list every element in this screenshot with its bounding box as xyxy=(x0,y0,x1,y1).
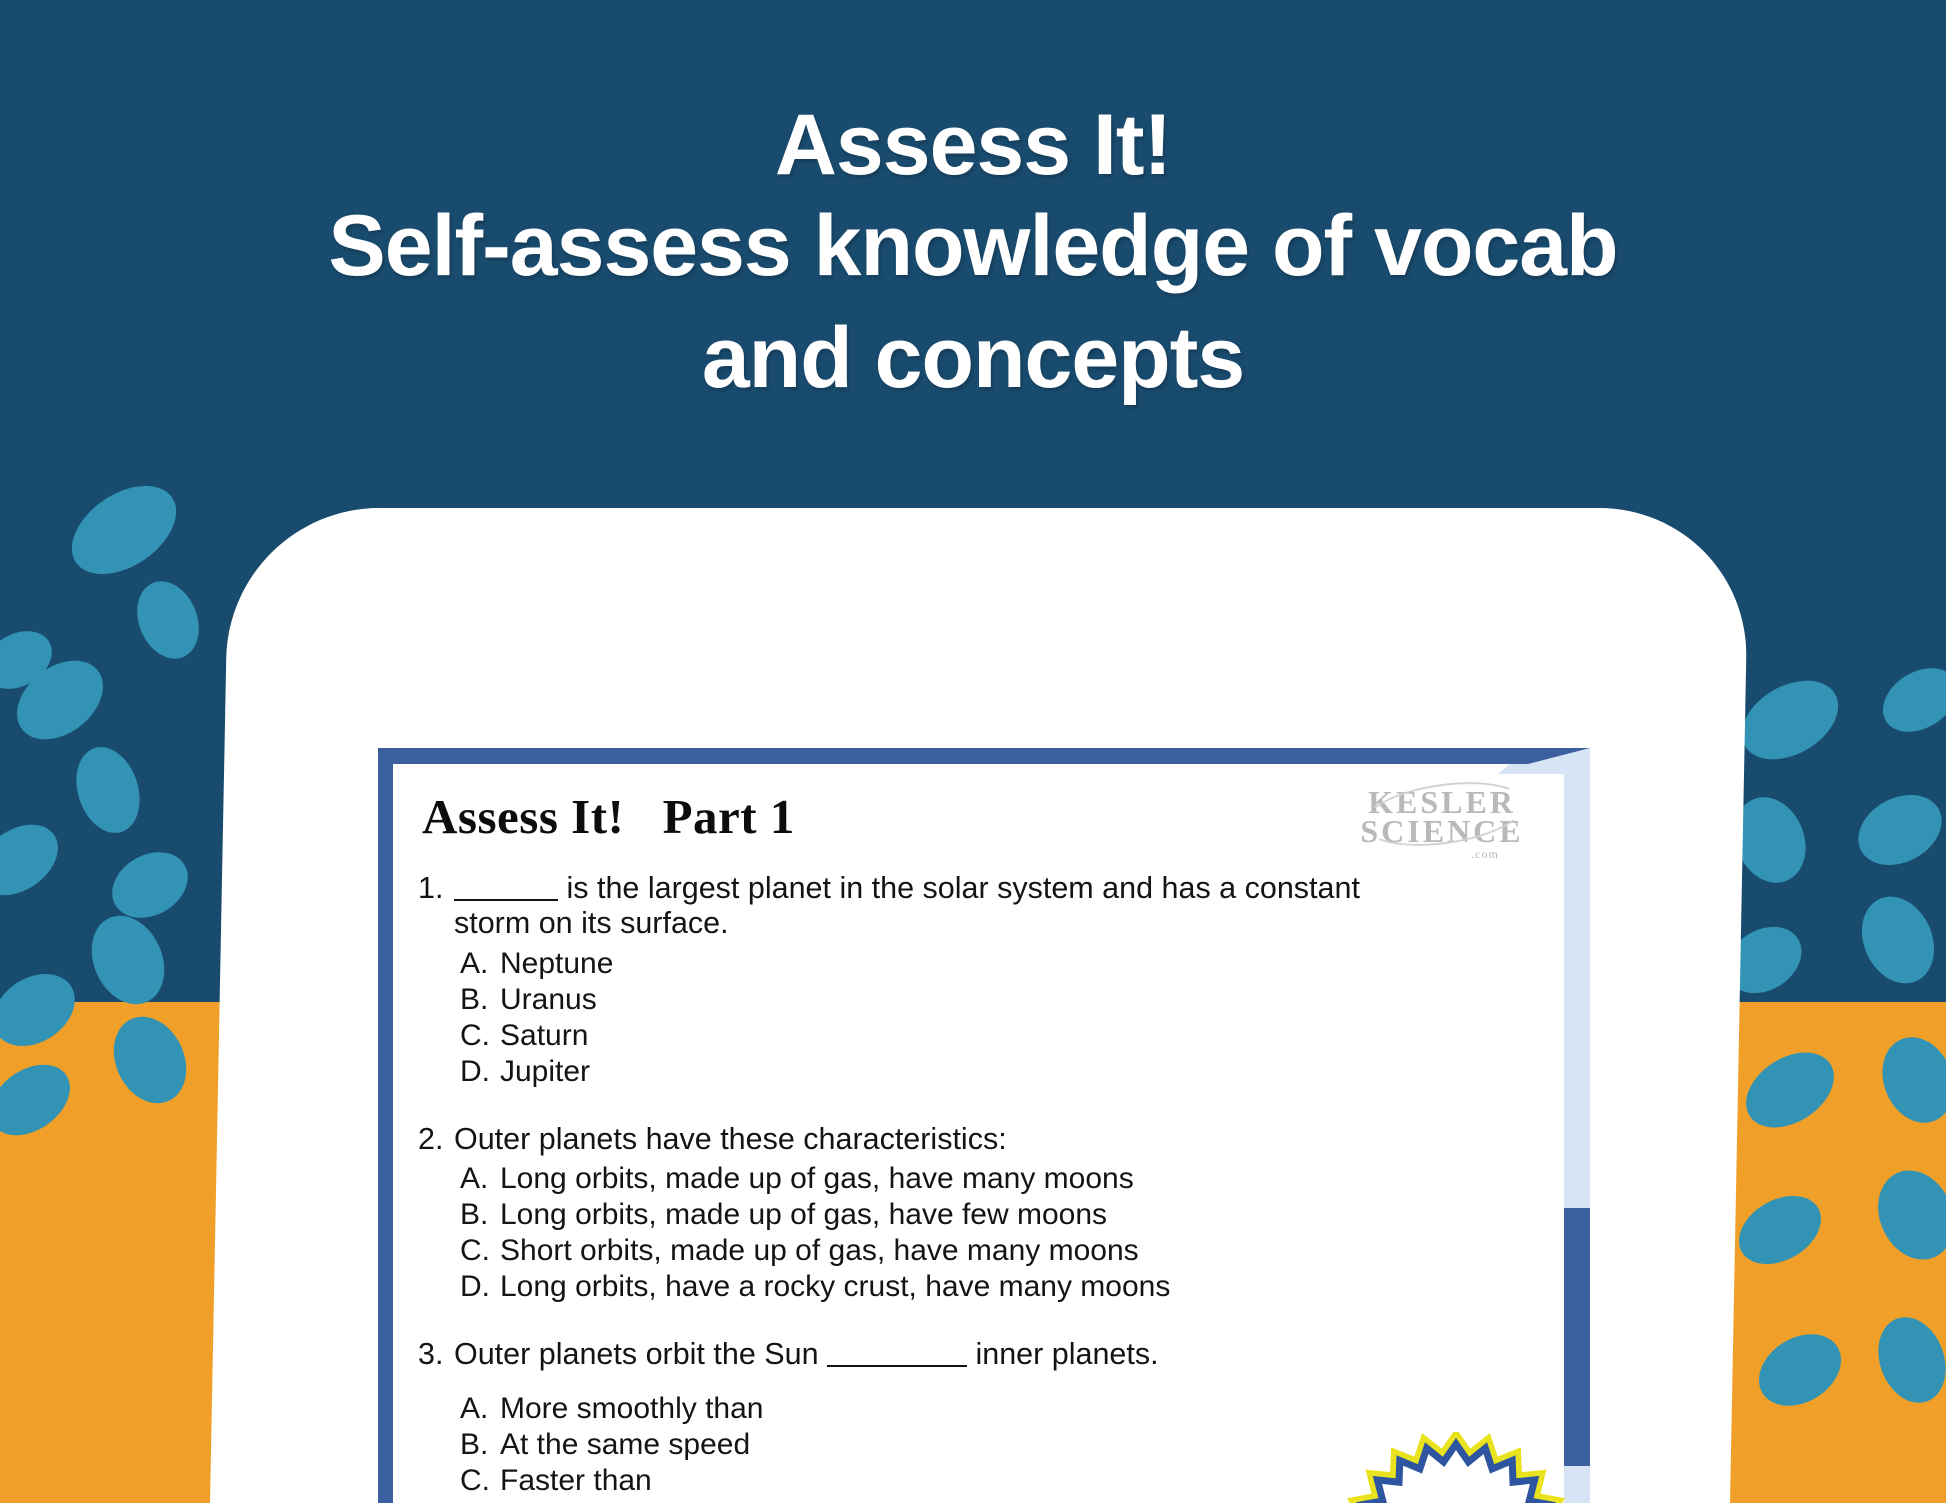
decorative-dot xyxy=(1746,1320,1855,1421)
option-row: C. Saturn xyxy=(460,1018,1552,1054)
question-3-number: 3. xyxy=(418,1337,454,1372)
option-row: A. Neptune xyxy=(460,946,1552,982)
question-1-blank xyxy=(454,899,558,901)
decorative-dot xyxy=(0,1050,83,1150)
headline-line-2: Self-assess knowledge of vocab xyxy=(0,191,1946,303)
decorative-dot xyxy=(56,468,192,593)
question-2-text: 2. Outer planets have these characterist… xyxy=(418,1122,1552,1157)
option-key: D. xyxy=(460,1054,500,1090)
option-row: D. Long orbits, have a rocky crust, have… xyxy=(460,1269,1552,1305)
worksheet-border-right-light xyxy=(1564,762,1590,1210)
option-label: Faster than xyxy=(500,1463,652,1499)
decorative-dot xyxy=(1867,1308,1946,1413)
logo-line-2: SCIENCE xyxy=(1356,817,1528,846)
question-2-body: Outer planets have these characteristics… xyxy=(454,1122,1552,1157)
question-1-body-line2: storm on its surface. xyxy=(454,906,729,940)
option-label: More smoothly than xyxy=(500,1391,763,1427)
question-1-body: is the largest planet in the solar syste… xyxy=(558,871,1360,905)
option-row: A. More smoothly than xyxy=(460,1391,1552,1427)
option-key: B. xyxy=(460,982,500,1018)
decorative-dot xyxy=(1849,885,1946,995)
question-3-text: 3. Outer planets orbit the Sun inner pla… xyxy=(418,1337,1552,1372)
decorative-dot xyxy=(1871,655,1946,745)
question-item: 2. Outer planets have these characterist… xyxy=(418,1122,1552,1305)
option-row: C. Short orbits, made up of gas, have ma… xyxy=(460,1233,1552,1269)
question-2-number: 2. xyxy=(418,1122,454,1157)
worksheet-page: Assess It! Part 1 KESLER SCIENCE .com 1.… xyxy=(378,748,1590,1503)
option-row: D. Jupiter xyxy=(460,1054,1552,1090)
decorative-dot xyxy=(1728,665,1852,776)
worksheet-border-left xyxy=(378,748,393,1503)
question-3-body-before: Outer planets orbit the Sun xyxy=(454,1337,827,1371)
option-key: B. xyxy=(460,1427,500,1463)
question-item: 1. is the largest planet in the solar sy… xyxy=(418,871,1552,1090)
slide-headline: Assess It! Self-assess knowledge of voca… xyxy=(0,100,1946,415)
option-key: C. xyxy=(460,1463,500,1499)
question-1-number: 1. xyxy=(418,871,454,942)
option-key: C. xyxy=(460,1233,500,1269)
option-label: Neptune xyxy=(500,946,613,982)
option-label: Short orbits, made up of gas, have many … xyxy=(500,1233,1139,1269)
option-key: A. xyxy=(460,1391,500,1427)
decorative-dot xyxy=(1846,781,1946,879)
decorative-dot xyxy=(1870,1026,1946,1133)
spacer xyxy=(418,1315,1552,1337)
worksheet-border-top xyxy=(378,748,1590,764)
option-label: Jupiter xyxy=(500,1054,590,1090)
option-key: A. xyxy=(460,1161,500,1197)
decorative-dot xyxy=(100,1005,200,1115)
option-label: At the same speed xyxy=(500,1427,750,1463)
option-label: Uranus xyxy=(500,982,597,1018)
option-row: B. Long orbits, made up of gas, have few… xyxy=(460,1197,1552,1233)
decorative-dot xyxy=(66,739,150,841)
option-label: Long orbits, made up of gas, have many m… xyxy=(500,1161,1134,1197)
question-2-options: A. Long orbits, made up of gas, have man… xyxy=(460,1161,1552,1305)
decorative-dot xyxy=(0,959,88,1061)
question-list: 1. is the largest planet in the solar sy… xyxy=(418,871,1552,1499)
option-row: B. Uranus xyxy=(460,982,1552,1018)
slide-canvas: Assess It! Part 1 KESLER SCIENCE .com 1.… xyxy=(0,0,1946,1503)
question-3-body-after: inner planets. xyxy=(967,1337,1159,1371)
decorative-dot xyxy=(1727,1182,1833,1278)
decorative-dot xyxy=(0,810,71,910)
headline-line-1: Assess It! xyxy=(0,100,1946,191)
decorative-dot xyxy=(126,572,210,668)
option-label: Saturn xyxy=(500,1018,588,1054)
worksheet-content: Assess It! Part 1 KESLER SCIENCE .com 1.… xyxy=(404,776,1552,1503)
option-label: Long orbits, made up of gas, have few mo… xyxy=(500,1197,1107,1233)
headline-line-3: and concepts xyxy=(0,303,1946,415)
option-key: C. xyxy=(460,1018,500,1054)
starburst-badge-icon xyxy=(1340,1432,1572,1503)
question-3-blank xyxy=(827,1365,967,1367)
question-1-options: A. Neptune B. Uranus C. Saturn D. xyxy=(460,946,1552,1090)
logo-domain-suffix: .com xyxy=(1442,849,1528,860)
decorative-dot xyxy=(1864,1158,1946,1271)
spacer xyxy=(418,1100,1552,1122)
option-key: B. xyxy=(460,1197,500,1233)
option-key: A. xyxy=(460,946,500,982)
question-1-text: 1. is the largest planet in the solar sy… xyxy=(418,871,1552,942)
kesler-science-logo: KESLER SCIENCE .com xyxy=(1356,788,1528,860)
decorative-dot xyxy=(1732,1037,1847,1143)
option-key: D. xyxy=(460,1269,500,1305)
option-label: Long orbits, have a rocky crust, have ma… xyxy=(500,1269,1170,1305)
option-row: A. Long orbits, made up of gas, have man… xyxy=(460,1161,1552,1197)
decorative-dot xyxy=(78,904,178,1016)
